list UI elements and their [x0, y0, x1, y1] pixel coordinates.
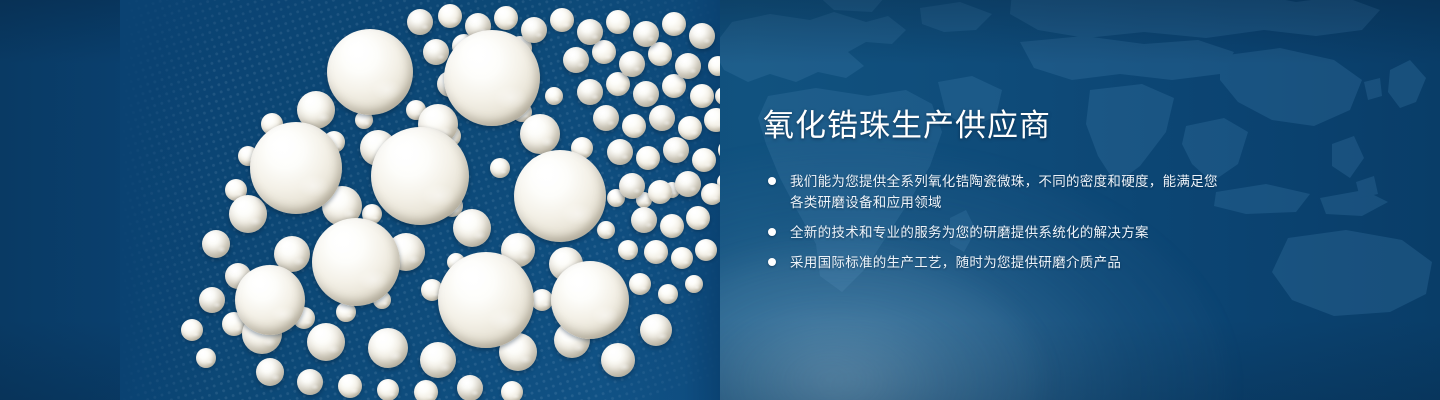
ceramic-bead [420, 342, 456, 378]
ceramic-bead [250, 122, 342, 214]
hero-banner: 氧化锆珠生产供应商 我们能为您提供全系列氧化锆陶瓷微珠，不同的密度和硬度，能满足… [0, 0, 1440, 400]
list-item-label: 全新的技术和专业的服务为您的研磨提供系统化的解决方案 [790, 225, 1149, 240]
ceramic-bead [297, 369, 323, 395]
bullet-dot-icon [768, 228, 776, 236]
ceramic-bead [494, 6, 518, 30]
ceramic-bead [551, 261, 629, 339]
ceramic-bead [675, 171, 701, 197]
ceramic-bead [629, 273, 651, 295]
ceramic-bead [235, 265, 305, 335]
ceramic-bead [453, 209, 491, 247]
ceramic-bead [490, 158, 510, 178]
ceramic-bead [671, 247, 693, 269]
ceramic-bead [689, 23, 715, 49]
ceramic-bead [690, 84, 714, 108]
ceramic-bead [593, 105, 619, 131]
ceramic-bead [550, 8, 574, 32]
ceramic-bead [601, 343, 635, 377]
ceramic-bead [202, 230, 230, 258]
ceramic-bead [514, 150, 606, 242]
ceramic-bead [636, 146, 660, 170]
ceramic-bead [649, 105, 675, 131]
ceramic-bead [181, 319, 203, 341]
ceramic-bead [692, 148, 716, 172]
ceramic-bead [644, 240, 668, 264]
ceramic-bead [577, 79, 603, 105]
ceramic-bead [607, 139, 633, 165]
ceramic-bead [685, 275, 703, 293]
ceramic-bead [438, 252, 534, 348]
ceramic-bead [606, 10, 630, 34]
ceramic-bead [368, 328, 408, 368]
ceramic-bead [423, 39, 449, 65]
list-item: 采用国际标准的生产工艺，随时为您提供研磨介质产品 [763, 252, 1223, 273]
ceramic-bead [631, 207, 657, 233]
ceramic-bead [371, 127, 469, 225]
ceramic-bead [718, 140, 720, 160]
bead-cluster [120, 0, 720, 400]
ceramic-bead [686, 206, 710, 230]
ceramic-bead [307, 323, 345, 361]
ceramic-bead [701, 183, 720, 205]
ceramic-bead [199, 287, 225, 313]
ceramic-bead [618, 240, 638, 260]
ceramic-bead [196, 348, 216, 368]
ceramic-bead [438, 4, 462, 28]
ceramic-bead [675, 53, 701, 79]
ceramic-bead [520, 114, 560, 154]
ceramic-bead [622, 114, 646, 138]
ceramic-bead [377, 379, 399, 400]
ceramic-bead [640, 314, 672, 346]
ceramic-bead [521, 17, 547, 43]
ceramic-bead [619, 173, 645, 199]
ceramic-bead [597, 221, 615, 239]
ceramic-bead [619, 51, 645, 77]
ceramic-bead [660, 214, 684, 238]
ceramic-bead [414, 380, 438, 400]
ceramic-bead [229, 195, 267, 233]
ceramic-bead [407, 9, 433, 35]
zirconia-beads-photo [120, 0, 720, 400]
ceramic-bead [545, 87, 563, 105]
ceramic-bead [256, 358, 284, 386]
list-item: 全新的技术和专业的服务为您的研磨提供系统化的解决方案 [763, 222, 1223, 243]
list-item-label: 我们能为您提供全系列氧化锆陶瓷微珠，不同的密度和硬度，能满足您各类研磨设备和应用… [790, 174, 1218, 210]
ceramic-bead [338, 374, 362, 398]
feature-list: 我们能为您提供全系列氧化锆陶瓷微珠，不同的密度和硬度，能满足您各类研磨设备和应用… [763, 171, 1223, 273]
list-item: 我们能为您提供全系列氧化锆陶瓷微珠，不同的密度和硬度，能满足您各类研磨设备和应用… [763, 171, 1223, 213]
ceramic-bead [678, 116, 702, 140]
list-item-label: 采用国际标准的生产工艺，随时为您提供研磨介质产品 [790, 255, 1121, 270]
ceramic-bead [663, 137, 689, 163]
ceramic-bead [708, 56, 720, 76]
ceramic-bead [444, 30, 540, 126]
ceramic-bead [633, 21, 659, 47]
ceramic-bead [563, 47, 589, 73]
ceramic-bead [695, 239, 717, 261]
ceramic-bead [633, 81, 659, 107]
banner-content: 氧化锆珠生产供应商 我们能为您提供全系列氧化锆陶瓷微珠，不同的密度和硬度，能满足… [763, 108, 1223, 273]
ceramic-bead [457, 375, 483, 400]
ceramic-bead [312, 218, 400, 306]
ceramic-bead [658, 284, 678, 304]
ceramic-bead [577, 19, 603, 45]
bullet-dot-icon [768, 258, 776, 266]
ceramic-bead [327, 29, 413, 115]
ceramic-bead [648, 180, 672, 204]
ceramic-bead [662, 12, 686, 36]
ceramic-bead [501, 381, 523, 400]
page-title: 氧化锆珠生产供应商 [763, 108, 1223, 145]
ceramic-bead [531, 289, 553, 311]
ceramic-bead [715, 87, 720, 105]
bullet-dot-icon [768, 177, 776, 185]
ceramic-bead [704, 108, 720, 132]
